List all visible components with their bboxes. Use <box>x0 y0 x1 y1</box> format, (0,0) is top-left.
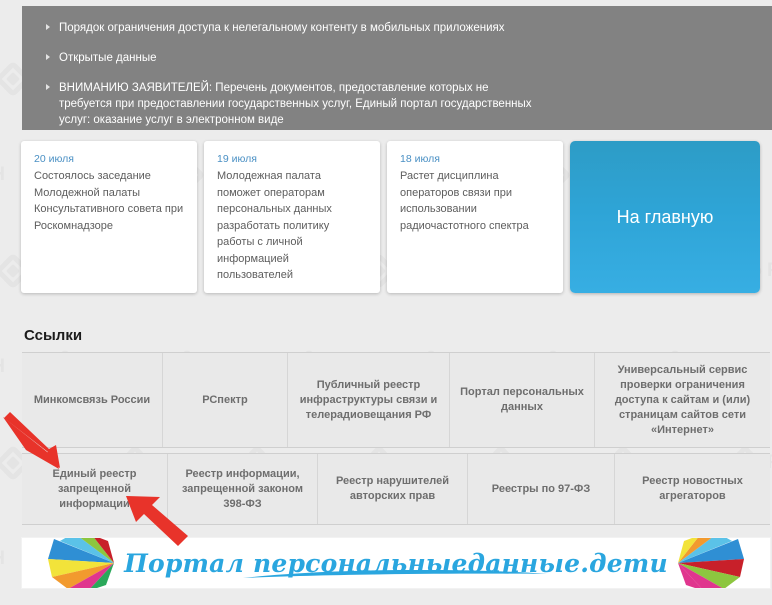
news-card[interactable]: 19 июля Молодежная палата поможет операт… <box>204 141 380 293</box>
link-cell-rspektr[interactable]: РСпектр <box>163 353 288 447</box>
banner-underline-swoosh <box>241 570 551 579</box>
news-card-title: Растет дисциплина операторов связи при и… <box>400 168 550 234</box>
news-card-date: 19 июля <box>217 153 367 165</box>
news-card-title: Состоялось заседание Молодежной палаты К… <box>34 168 184 234</box>
link-cell-label: Реестр нарушителей авторских прав <box>326 474 459 504</box>
news-card[interactable]: 18 июля Растет дисциплина операторов свя… <box>387 141 563 293</box>
link-cell-public-registry[interactable]: Публичный реестр инфраструктуры связи и … <box>288 353 450 447</box>
link-cell-label: Минкомсвязь России <box>34 393 150 408</box>
watermark-label: РКН <box>0 548 6 570</box>
link-cell-label: Реестры по 97-ФЗ <box>492 482 590 497</box>
notice-item-label: Порядок ограничения доступа к нелегально… <box>59 20 505 36</box>
links-row-secondary: Единый реестр запрещенной информации Рее… <box>22 453 770 525</box>
bullet-arrow-icon <box>46 24 50 30</box>
home-button-label: На главную <box>617 207 714 228</box>
link-cell-label: Портал персональных данных <box>458 385 586 415</box>
news-card-date: 18 июля <box>400 153 550 165</box>
watermark-mark: РКН <box>0 546 6 572</box>
notice-item[interactable]: Порядок ограничения доступа к нелегально… <box>36 20 536 36</box>
rkn-logo-icon <box>291 0 328 1</box>
link-cell-label: РСпектр <box>202 393 247 408</box>
home-button[interactable]: На главную <box>570 141 760 293</box>
notice-item[interactable]: Открытые данные <box>36 50 536 66</box>
link-cell-label: Универсальный сервис проверки ограничени… <box>603 363 762 438</box>
rkn-logo-icon <box>47 0 84 1</box>
banner-fan-left-decoration <box>28 538 138 588</box>
link-cell-minkomsvyaz[interactable]: Минкомсвязь России <box>22 353 163 447</box>
news-card-title: Молодежная палата поможет операторам пер… <box>217 168 367 284</box>
watermark-mark: РКН <box>0 354 6 380</box>
news-cards-row: 20 июля Состоялось заседание Молодежной … <box>21 141 768 293</box>
link-cell-reestr-398fz[interactable]: Реестр информации, запрещенной законом 3… <box>168 454 318 524</box>
link-cell-news-aggregators[interactable]: Реестр новостных агрегаторов <box>615 454 770 524</box>
bullet-arrow-icon <box>46 84 50 90</box>
bullet-arrow-icon <box>46 54 50 60</box>
watermark-label: РКН <box>0 164 6 186</box>
rkn-logo-icon <box>413 0 450 1</box>
links-section-heading: Ссылки <box>24 327 82 344</box>
link-cell-reestry-97fz[interactable]: Реестры по 97-ФЗ <box>468 454 615 524</box>
link-cell-label: Реестр информации, запрещенной законом 3… <box>176 467 309 512</box>
rkn-logo-icon <box>169 0 206 1</box>
links-row-primary: Минкомсвязь России РСпектр Публичный рее… <box>22 352 770 448</box>
rkn-logo-icon <box>535 0 572 1</box>
link-cell-label: Публичный реестр инфраструктуры связи и … <box>296 378 441 423</box>
banner-fan-right-decoration <box>654 538 764 588</box>
link-cell-label: Реестр новостных агрегаторов <box>623 474 762 504</box>
notice-panel: Порядок ограничения доступа к нелегально… <box>22 6 772 130</box>
watermark-label: РКН <box>0 356 6 378</box>
watermark-mark: РКН <box>0 162 6 188</box>
link-cell-label: Единый реестр запрещенной информации <box>30 467 159 512</box>
link-cell-edinyi-reestr[interactable]: Единый реестр запрещенной информации <box>22 454 168 524</box>
notice-item-label: Открытые данные <box>59 50 157 66</box>
notice-list: Порядок ограничения доступа к нелегально… <box>22 6 772 128</box>
news-card[interactable]: 20 июля Состоялось заседание Молодежной … <box>21 141 197 293</box>
notice-item[interactable]: ВНИМАНИЮ ЗАЯВИТЕЛЕЙ: Перечень документов… <box>36 80 536 128</box>
link-cell-universal-service[interactable]: Универсальный сервис проверки ограничени… <box>595 353 770 447</box>
link-cell-reestr-copyright[interactable]: Реестр нарушителей авторских прав <box>318 454 468 524</box>
notice-item-label: ВНИМАНИЮ ЗАЯВИТЕЛЕЙ: Перечень документов… <box>59 80 536 128</box>
link-cell-personal-data-portal[interactable]: Портал персональных данных <box>450 353 595 447</box>
news-card-date: 20 июля <box>34 153 184 165</box>
rkn-logo-icon <box>657 0 694 1</box>
personal-data-children-banner[interactable]: Портал персональныеданные.дети <box>22 538 770 588</box>
